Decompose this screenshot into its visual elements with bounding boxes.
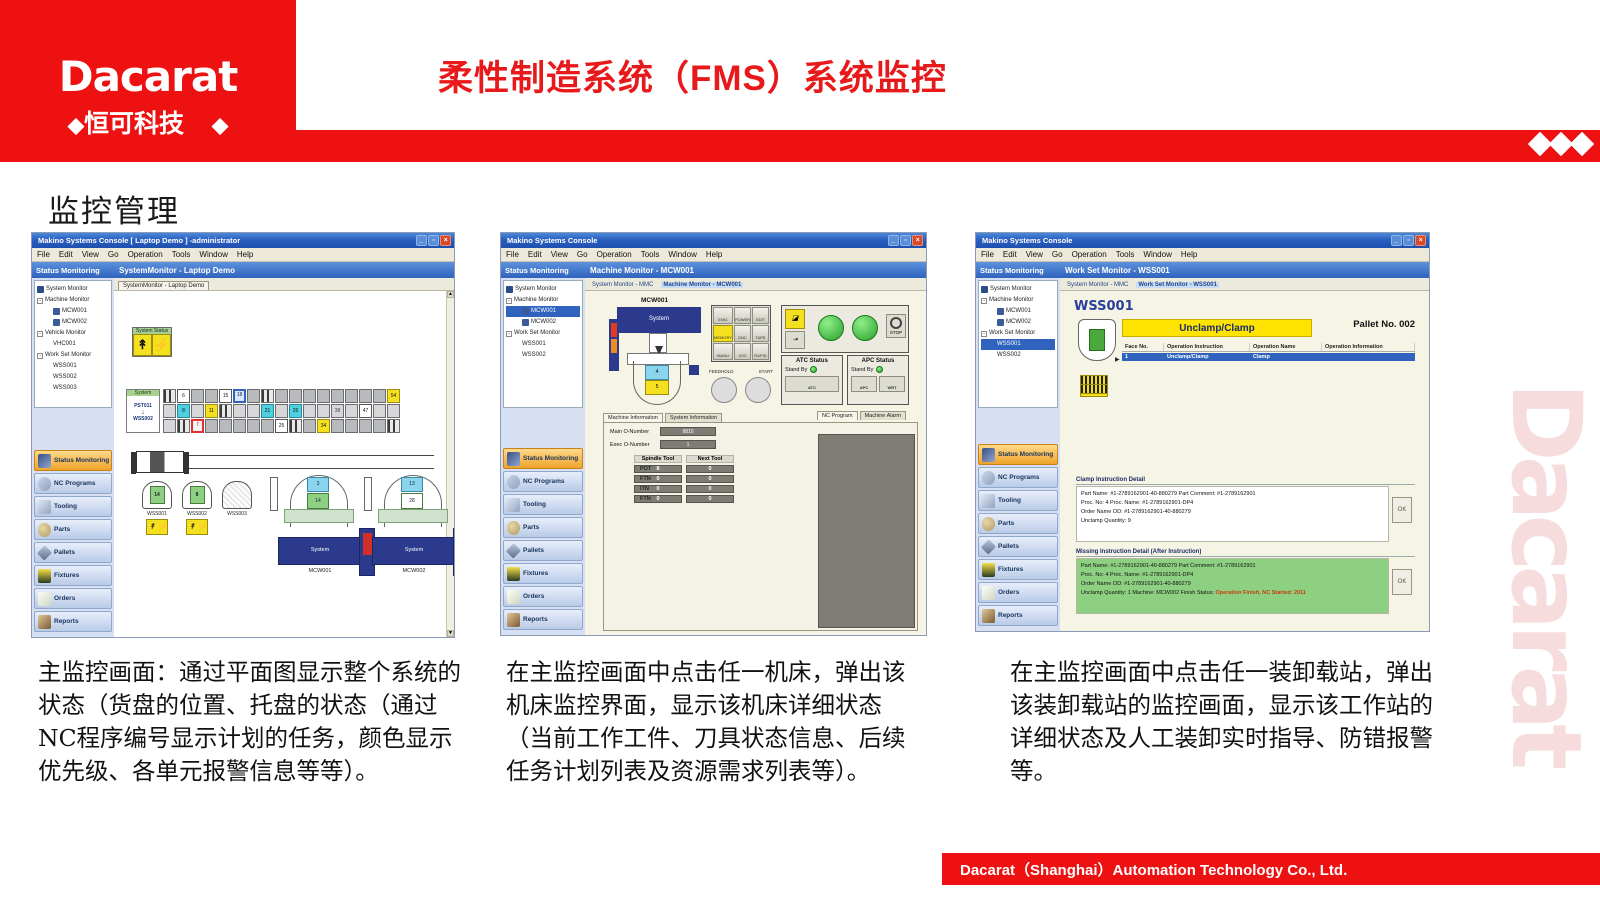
row-key: POT bbox=[640, 466, 651, 472]
machine-base: System bbox=[278, 537, 362, 565]
machine-cap-value: 3 bbox=[307, 477, 329, 492]
menu-item-window[interactable]: Window bbox=[668, 250, 696, 259]
expander-icon[interactable]: - bbox=[506, 298, 512, 304]
station-signal-icon: ↟⚡ bbox=[186, 519, 208, 535]
pallet-stocker-grid[interactable]: System PST011 ↓ WSS002 61215183054811212… bbox=[126, 389, 400, 433]
sidebar-item-tooling[interactable]: Tooling bbox=[978, 490, 1058, 511]
start-button[interactable] bbox=[745, 377, 771, 403]
menu-item-window[interactable]: Window bbox=[199, 250, 227, 259]
alarm-icons: ↟⚡ bbox=[133, 334, 171, 356]
program-icon bbox=[38, 477, 51, 491]
menu-item-operation[interactable]: Operation bbox=[128, 250, 163, 259]
breadcrumb: System Monitor - MMC Work Set Monitor - … bbox=[1060, 278, 1429, 291]
sidebar-item-label: Tooling bbox=[998, 497, 1021, 504]
tree-node[interactable]: -Work Set Monitor bbox=[37, 350, 109, 361]
sidebar-item-label: Status Monitoring bbox=[523, 455, 578, 462]
sidebar-item-label: NC Programs bbox=[523, 478, 565, 485]
tree-node-label: MCW001 bbox=[62, 306, 87, 317]
sidebar-item-orders[interactable]: Orders bbox=[978, 582, 1058, 603]
tree-node[interactable]: System Monitor bbox=[506, 284, 580, 295]
expander-icon[interactable]: - bbox=[37, 331, 43, 337]
stocker-cell[interactable]: 30 bbox=[289, 389, 302, 403]
sidebar-item-tooling[interactable]: Tooling bbox=[503, 494, 583, 515]
stocker-cell[interactable] bbox=[387, 419, 400, 433]
tree-node[interactable]: WSS001 bbox=[37, 361, 109, 372]
tree-node[interactable]: WSS002 bbox=[506, 350, 580, 361]
sidebar-item-pallets[interactable]: Pallets bbox=[34, 542, 112, 563]
tree-node[interactable]: System Monitor bbox=[37, 284, 109, 295]
tree-node-selected[interactable]: MCW001 bbox=[506, 306, 580, 317]
stocker-cell[interactable] bbox=[373, 419, 386, 433]
tree-node-label: Vehicle Monitor bbox=[45, 328, 86, 339]
maximize-icon[interactable]: ▫ bbox=[428, 235, 439, 246]
sidebar-item-label: Fixtures bbox=[54, 572, 79, 579]
stocker-cell[interactable] bbox=[289, 419, 302, 433]
menu-item-operation[interactable]: Operation bbox=[1072, 250, 1107, 259]
expander-icon[interactable]: - bbox=[37, 298, 43, 304]
stocker-cell[interactable]: 38 bbox=[331, 404, 344, 418]
footer-bar: Dacarat（Shanghai）Automation Technology C… bbox=[942, 853, 1600, 885]
tree-node[interactable]: -Machine Monitor bbox=[981, 295, 1055, 306]
stocker-cell[interactable] bbox=[261, 419, 274, 433]
signal-bar-icon bbox=[1081, 376, 1107, 385]
stocker-cell[interactable] bbox=[345, 404, 358, 418]
sidebar-item-nc-programs[interactable]: NC Programs bbox=[503, 471, 583, 492]
apc-buttons[interactable]: APCWRT bbox=[851, 376, 905, 392]
monitor-icon bbox=[37, 286, 44, 293]
pad-button-emg[interactable]: EMG bbox=[713, 307, 733, 324]
cell: 0 bbox=[686, 465, 734, 473]
header-underline bbox=[0, 162, 1600, 165]
navigation-tree[interactable]: System Monitor -Machine Monitor MCW001 M… bbox=[503, 280, 583, 408]
diamond-icon bbox=[1570, 132, 1594, 156]
work-station-group: 14 WSS001 ↟⚡ 8 WSS002 ↟⚡ WSS003 bbox=[142, 481, 252, 535]
stocker-cell[interactable] bbox=[303, 404, 316, 418]
sidebar-item-parts[interactable]: Parts bbox=[978, 513, 1058, 534]
parts-icon bbox=[982, 517, 995, 531]
sidebar-item-reports[interactable]: Reports bbox=[978, 605, 1058, 626]
expander-icon[interactable]: - bbox=[506, 331, 512, 337]
feedhold-button[interactable] bbox=[711, 377, 737, 403]
navigation-tree[interactable]: System Monitor -Machine Monitor MCW001 M… bbox=[34, 280, 112, 408]
tree-node[interactable]: -Vehicle Monitor bbox=[37, 328, 109, 339]
tree-node[interactable]: MCW002 bbox=[506, 317, 580, 328]
breadcrumb-item-current[interactable]: Work Set Monitor - WSS001 bbox=[1136, 282, 1219, 288]
pad-button-tape[interactable]: TAPE bbox=[752, 325, 769, 342]
tree-node-label: WSS002 bbox=[997, 350, 1021, 361]
machine-work-value: 28 bbox=[401, 493, 423, 509]
status-badge: Unclamp/Clamp bbox=[1122, 319, 1312, 337]
stocker-cell[interactable] bbox=[163, 404, 176, 418]
apc-status-box: APC Status Stand By APCWRT bbox=[847, 355, 909, 405]
row-key: ITN bbox=[640, 486, 649, 492]
vehicle-cart-icon[interactable] bbox=[136, 451, 184, 473]
tree-node-label: System Monitor bbox=[990, 284, 1032, 295]
label-feedhold: FEEDHOLD bbox=[709, 369, 734, 374]
stocker-cell[interactable]: 8 bbox=[177, 404, 190, 418]
scroll-up-icon[interactable]: ▲ bbox=[447, 291, 454, 298]
tree-node[interactable]: MCW001 bbox=[37, 306, 109, 317]
content-header: Machine Monitor - MCW001 bbox=[585, 262, 926, 278]
detail-line: Part Name: #1-2789162901-40-880279 Part … bbox=[1081, 490, 1384, 499]
tab-strip: Machine Information System Information N… bbox=[603, 411, 918, 422]
reports-icon bbox=[507, 613, 520, 627]
tree-node[interactable]: WSS002 bbox=[37, 372, 109, 383]
station-piece-icon bbox=[1089, 329, 1105, 351]
tree-node-selected[interactable]: WSS001 bbox=[981, 339, 1055, 350]
tree-node[interactable]: WSS001 bbox=[506, 339, 580, 350]
screenshot-panel-system-monitor: Makino Systems Console [ Laptop Demo ] -… bbox=[31, 232, 455, 638]
stocker-cell[interactable] bbox=[191, 389, 204, 403]
breadcrumb-item[interactable]: System Monitor - MMC bbox=[589, 279, 656, 290]
machine-nub bbox=[689, 365, 699, 375]
menu-item-file[interactable]: File bbox=[37, 250, 50, 259]
operator-button-pad[interactable]: EMG POWER EDIT MEMORY DNC TAPE MANU JOG … bbox=[711, 305, 771, 362]
tree-node-label: MCW002 bbox=[1006, 317, 1031, 328]
diamond-icon: ◆ bbox=[68, 114, 84, 137]
pad-button-memory[interactable]: MEMORY bbox=[713, 325, 733, 342]
menu-item-tools[interactable]: Tools bbox=[172, 250, 191, 259]
ready-indicator-icon: ◪ bbox=[785, 309, 805, 329]
diamond-icon: ◆ bbox=[212, 114, 228, 137]
breadcrumb-item[interactable]: System Monitor - MMC bbox=[1064, 279, 1131, 290]
sidebar-item-fixtures[interactable]: Fixtures bbox=[978, 559, 1058, 580]
stocker-cell[interactable]: 54 bbox=[387, 389, 400, 403]
sidebar-item-nc-programs[interactable]: NC Programs bbox=[34, 473, 112, 494]
stocker-cell[interactable] bbox=[331, 389, 344, 403]
window-title: Makino Systems Console [ Laptop Demo ] -… bbox=[38, 236, 240, 245]
menu-item-edit[interactable]: Edit bbox=[59, 250, 73, 259]
stocker-cell[interactable] bbox=[261, 389, 274, 403]
maximize-icon[interactable]: ▫ bbox=[900, 235, 911, 246]
apc-state: Stand By bbox=[851, 366, 905, 373]
menu-item-operation[interactable]: Operation bbox=[597, 250, 632, 259]
tree-node[interactable]: MCW002 bbox=[981, 317, 1055, 328]
program-icon bbox=[507, 475, 520, 489]
sidebar-item-orders[interactable]: Orders bbox=[34, 588, 112, 609]
stocker-cell[interactable] bbox=[247, 404, 260, 418]
apc-button[interactable]: APC bbox=[851, 376, 877, 392]
sidebar-item-status-monitoring[interactable]: Status Monitoring bbox=[503, 448, 583, 469]
menu-item-go[interactable]: Go bbox=[1052, 250, 1063, 259]
stocker-cell[interactable]: 25 bbox=[275, 419, 288, 433]
stocker-row: 61215183054 bbox=[163, 389, 400, 403]
menu-item-window[interactable]: Window bbox=[1143, 250, 1171, 259]
parts-icon bbox=[38, 523, 51, 537]
stocker-cell[interactable] bbox=[247, 389, 260, 403]
station-dome-icon bbox=[222, 481, 252, 509]
stocker-cell[interactable] bbox=[191, 404, 204, 418]
minimize-icon[interactable]: _ bbox=[416, 235, 427, 246]
page-title: 柔性制造系统（FMS）系统监控 bbox=[438, 50, 947, 101]
stocker-cell[interactable]: 26 bbox=[289, 404, 302, 418]
machine-icon bbox=[53, 319, 60, 326]
atc-button[interactable]: ATC bbox=[785, 376, 839, 392]
stocker-cell[interactable]: 10 bbox=[205, 419, 218, 433]
green-lamp-icon bbox=[810, 366, 817, 373]
pad-button-manu[interactable]: MANU bbox=[713, 343, 733, 360]
detail-title: Missing Instruction Detail (After Instru… bbox=[1076, 549, 1415, 557]
machine-name: MCW001 bbox=[278, 568, 362, 574]
sidebar-item-label: Reports bbox=[998, 612, 1023, 619]
tab-machine-information[interactable]: Machine Information bbox=[603, 413, 663, 422]
tree-node-label: MCW001 bbox=[1006, 306, 1031, 317]
stocker-cell[interactable] bbox=[345, 389, 358, 403]
work-station[interactable]: 8 WSS002 ↟⚡ bbox=[182, 481, 212, 535]
stop-label: STOP bbox=[890, 330, 902, 335]
pad-button-power[interactable]: POWER bbox=[734, 307, 751, 324]
tree-node[interactable]: System Monitor bbox=[981, 284, 1055, 295]
sidebar-item-reports[interactable]: Reports bbox=[34, 611, 112, 632]
stocker-cell[interactable] bbox=[233, 404, 246, 418]
navigation-tree[interactable]: System Monitor -Machine Monitor MCW001 M… bbox=[978, 280, 1058, 408]
stocker-cell[interactable] bbox=[317, 389, 330, 403]
menu-item-help[interactable]: Help bbox=[1181, 250, 1197, 259]
stocker-cell[interactable]: 34 bbox=[317, 419, 330, 433]
tree-node-label: MCW002 bbox=[531, 317, 556, 328]
close-icon[interactable]: × bbox=[440, 235, 451, 246]
menu-item-help[interactable]: Help bbox=[237, 250, 253, 259]
parts-icon bbox=[507, 521, 520, 535]
machine-diagram: System 4 5 bbox=[609, 307, 701, 417]
stocker-cell[interactable]: 18 bbox=[233, 389, 246, 403]
stocker-cell[interactable] bbox=[373, 389, 386, 403]
pad-button-jog[interactable]: JOG bbox=[734, 343, 751, 360]
operation-table[interactable]: Face No. Operation Instruction Operation… bbox=[1122, 343, 1415, 361]
wrt-button[interactable]: WRT bbox=[879, 376, 905, 392]
pallet-icon bbox=[981, 539, 996, 554]
tree-node-label: WSS002 bbox=[522, 350, 546, 361]
stocker-cell[interactable]: 11 bbox=[205, 404, 218, 418]
content-header: Work Set Monitor - WSS001 bbox=[1060, 262, 1429, 278]
tree-node[interactable]: MCW001 bbox=[981, 306, 1055, 317]
machine-base-label: System bbox=[279, 547, 361, 553]
tab-strip: SystemMonitor - Laptop Demo bbox=[114, 278, 454, 291]
expander-icon[interactable]: - bbox=[37, 353, 43, 359]
sidebar-item-fixtures[interactable]: Fixtures bbox=[503, 563, 583, 584]
machine-icon bbox=[997, 319, 1004, 326]
menu-item-go[interactable]: Go bbox=[577, 250, 588, 259]
stocker-cell[interactable] bbox=[303, 389, 316, 403]
stocker-cell[interactable] bbox=[163, 389, 176, 403]
nav-button-group: Status Monitoring NC Programs Tooling Pa… bbox=[32, 448, 114, 637]
tree-node[interactable]: WSS002 bbox=[981, 350, 1055, 361]
pad-button-rapid[interactable]: RAPID bbox=[752, 343, 769, 360]
window-titlebar: Makino Systems Console _ ▫ × bbox=[976, 233, 1429, 248]
pallet-number: Pallet No. 002 bbox=[1353, 319, 1415, 330]
stocker-cell[interactable] bbox=[331, 419, 344, 433]
work-station[interactable]: 14 WSS001 ↟⚡ bbox=[142, 481, 172, 535]
sidebar-item-label: Orders bbox=[54, 595, 75, 602]
floorplan-canvas[interactable]: ▲▼ System Status ↟⚡ System PST011 ↓ WSS0… bbox=[114, 291, 454, 637]
column-next-tool: Next Tool bbox=[686, 455, 734, 463]
stocker-cell[interactable] bbox=[177, 419, 190, 433]
tab-system-monitor[interactable]: SystemMonitor - Laptop Demo bbox=[118, 281, 209, 290]
scroll-down-icon[interactable]: ▼ bbox=[447, 630, 454, 637]
atc-state: Stand By bbox=[785, 366, 839, 373]
expander-icon[interactable]: - bbox=[981, 331, 987, 337]
detail-body: Part Name: #1-2789162901-40-880279 Part … bbox=[1076, 558, 1389, 614]
menu-item-go[interactable]: Go bbox=[108, 250, 119, 259]
menu-item-view[interactable]: View bbox=[551, 250, 568, 259]
stocker-cell[interactable] bbox=[275, 389, 288, 403]
tree-node[interactable]: -Machine Monitor bbox=[37, 295, 109, 306]
spindle-icon bbox=[649, 333, 667, 353]
breadcrumb-item-current[interactable]: Machine Monitor - MCW001 bbox=[661, 282, 743, 288]
machine-monitor-canvas[interactable]: MCW001 System 4 5 EMG POWER E bbox=[585, 291, 926, 635]
stocker-cell[interactable]: 7 bbox=[191, 419, 204, 433]
sidebar-item-parts[interactable]: Parts bbox=[503, 517, 583, 538]
cell-operation-information bbox=[1322, 353, 1415, 361]
work-station[interactable]: WSS003 bbox=[222, 481, 252, 535]
tree-node-label: MCW002 bbox=[62, 317, 87, 328]
sidebar-item-status-monitoring[interactable]: Status Monitoring bbox=[978, 444, 1058, 465]
stocker-cell[interactable] bbox=[317, 404, 330, 418]
expander-icon[interactable]: - bbox=[981, 298, 987, 304]
sidebar-item-nc-programs[interactable]: NC Programs bbox=[978, 467, 1058, 488]
work-set-canvas[interactable]: WSS001 Unclamp/Clamp Pallet No. 002 Face… bbox=[1060, 291, 1429, 631]
tree-node-label: WSS002 bbox=[53, 372, 77, 383]
minimize-icon[interactable]: _ bbox=[888, 235, 899, 246]
tree-node[interactable]: -Machine Monitor bbox=[506, 295, 580, 306]
stocker-cell[interactable] bbox=[219, 404, 232, 418]
tree-node[interactable]: MCW002 bbox=[37, 317, 109, 328]
stocker-cell[interactable] bbox=[219, 419, 232, 433]
stocker-cell[interactable] bbox=[359, 389, 372, 403]
stocker-cell[interactable] bbox=[163, 419, 176, 433]
vertical-scrollbar[interactable]: ▲▼ bbox=[446, 291, 454, 637]
station-value: 14 bbox=[150, 486, 165, 504]
close-icon[interactable]: × bbox=[1415, 235, 1426, 246]
minimize-icon[interactable]: _ bbox=[1391, 235, 1402, 246]
menu-item-help[interactable]: Help bbox=[706, 250, 722, 259]
sidebar-item-fixtures[interactable]: Fixtures bbox=[34, 565, 112, 586]
window-buttons: _ ▫ × bbox=[416, 235, 451, 246]
close-icon[interactable]: × bbox=[912, 235, 923, 246]
machine-mcw001[interactable]: 3 14 System MCW001 bbox=[278, 475, 362, 574]
fixture-icon bbox=[38, 569, 51, 583]
sidebar-item-tooling[interactable]: Tooling bbox=[34, 496, 112, 517]
tree-node[interactable]: -Work Set Monitor bbox=[506, 328, 580, 339]
sidebar-item-orders[interactable]: Orders bbox=[503, 586, 583, 607]
menu-item-file[interactable]: File bbox=[981, 250, 994, 259]
menu-item-file[interactable]: File bbox=[506, 250, 519, 259]
tree-node-label: Machine Monitor bbox=[989, 295, 1033, 306]
sidebar-item-pallets[interactable]: Pallets bbox=[978, 536, 1058, 557]
stocker-cell[interactable] bbox=[303, 419, 316, 433]
station-dome-icon: 14 bbox=[142, 481, 172, 509]
finish-status: Operation Finish, NC Started: 2011 bbox=[1216, 590, 1306, 596]
orders-icon bbox=[38, 592, 51, 606]
station-name: WSS002 bbox=[182, 511, 212, 517]
bolt-icon: ⚡ bbox=[152, 334, 171, 356]
workpiece-cyan: 4 bbox=[645, 365, 669, 380]
tab-system-information[interactable]: System Information bbox=[665, 413, 722, 422]
machine-head: System bbox=[617, 307, 701, 333]
pallet-icon bbox=[37, 545, 52, 560]
label-start: START bbox=[759, 369, 773, 374]
stocker-cell[interactable]: 6 bbox=[177, 389, 190, 403]
tree-node[interactable]: VHC001 bbox=[37, 339, 109, 350]
program-icon bbox=[982, 471, 995, 485]
nav-header: Status Monitoring bbox=[501, 262, 585, 278]
menu-item-tools[interactable]: Tools bbox=[641, 250, 660, 259]
nc-program-pane[interactable] bbox=[818, 434, 915, 628]
detail-line: Proc. No: 4 Proc. Name: #1-2789162901-DP… bbox=[1081, 571, 1384, 580]
sidebar-item-reports[interactable]: Reports bbox=[503, 609, 583, 630]
machine-base-label: System bbox=[373, 547, 454, 553]
stocker-cell[interactable] bbox=[345, 419, 358, 433]
stocker-cell[interactable] bbox=[275, 404, 288, 418]
machine-mcw002[interactable]: 13 28 System MCW002 bbox=[372, 475, 454, 574]
sidebar-item-status-monitoring[interactable]: Status Monitoring bbox=[34, 450, 112, 471]
machine-side-panel bbox=[453, 528, 454, 576]
cell-face-no: 1 bbox=[1122, 353, 1164, 361]
stocker-cell-grid[interactable]: 61215183054811212638477102534 bbox=[163, 389, 400, 433]
station-name: WSS003 bbox=[222, 511, 252, 517]
stocker-cell[interactable] bbox=[373, 404, 386, 418]
tree-node-label: WSS003 bbox=[53, 383, 77, 394]
menu-item-view[interactable]: View bbox=[1026, 250, 1043, 259]
atc-buttons[interactable]: ATC bbox=[785, 376, 839, 392]
left-navigation: Status Monitoring System Monitor -Machin… bbox=[976, 262, 1060, 631]
stocker-cell[interactable]: 47 bbox=[359, 404, 372, 418]
window-buttons: _ ▫ × bbox=[888, 235, 923, 246]
round-buttons[interactable] bbox=[711, 377, 771, 403]
detail-ok-button[interactable]: OK bbox=[1392, 497, 1412, 523]
maximize-icon[interactable]: ▫ bbox=[1403, 235, 1414, 246]
tab-nc-program[interactable]: NC Program bbox=[817, 411, 858, 420]
sidebar-item-label: Parts bbox=[523, 524, 539, 531]
menu-item-tools[interactable]: Tools bbox=[1116, 250, 1135, 259]
station-dome-icon: 8 bbox=[182, 481, 212, 509]
tree-node[interactable]: WSS003 bbox=[37, 383, 109, 394]
system-status-widget[interactable]: System Status ↟⚡ bbox=[132, 327, 172, 357]
pad-button-dnc[interactable]: DNC bbox=[734, 325, 751, 342]
nav-button-group: Status Monitoring NC Programs Tooling Pa… bbox=[976, 442, 1060, 631]
company-logo-block: Dacarat ◆恒可科技◆ bbox=[0, 0, 296, 162]
stocker-cell[interactable]: 21 bbox=[261, 404, 274, 418]
tree-node-label: Machine Monitor bbox=[514, 295, 558, 306]
monitor-icon bbox=[507, 452, 520, 466]
sidebar-item-pallets[interactable]: Pallets bbox=[503, 540, 583, 561]
menu-item-view[interactable]: View bbox=[82, 250, 99, 259]
tree-node-label: System Monitor bbox=[515, 284, 557, 295]
left-navigation: Status Monitoring System Monitor -Machin… bbox=[32, 262, 114, 637]
tab-machine-alarm[interactable]: Machine Alarm bbox=[860, 411, 906, 420]
stocker-cell[interactable]: 15 bbox=[219, 389, 232, 403]
pad-button-edit[interactable]: EDIT bbox=[752, 307, 769, 324]
tree-node-label: Machine Monitor bbox=[45, 295, 89, 306]
table-row[interactable]: ▶ 1 Unclamp/Clamp Clamp bbox=[1122, 353, 1415, 361]
stocker-cell[interactable] bbox=[233, 419, 246, 433]
stocker-cell[interactable] bbox=[387, 404, 400, 418]
stocker-cell[interactable] bbox=[247, 419, 260, 433]
sidebar-item-parts[interactable]: Parts bbox=[34, 519, 112, 540]
content-area: SystemMonitor - Laptop Demo SystemMonito… bbox=[114, 262, 454, 637]
tree-node-label: Work Set Monitor bbox=[45, 350, 91, 361]
menu-item-edit[interactable]: Edit bbox=[1003, 250, 1017, 259]
sidebar-item-label: NC Programs bbox=[54, 480, 96, 487]
nav-header: Status Monitoring bbox=[976, 262, 1060, 278]
stocker-cell[interactable]: 12 bbox=[205, 389, 218, 403]
menu-item-edit[interactable]: Edit bbox=[528, 250, 542, 259]
detail-body: Part Name: #1-2789162901-40-880279 Part … bbox=[1076, 486, 1389, 542]
detail-ok-button[interactable]: OK bbox=[1392, 569, 1412, 595]
stocker-cell[interactable] bbox=[359, 419, 372, 433]
tree-node[interactable]: -Work Set Monitor bbox=[981, 328, 1055, 339]
stop-button[interactable]: STOP bbox=[886, 314, 906, 338]
